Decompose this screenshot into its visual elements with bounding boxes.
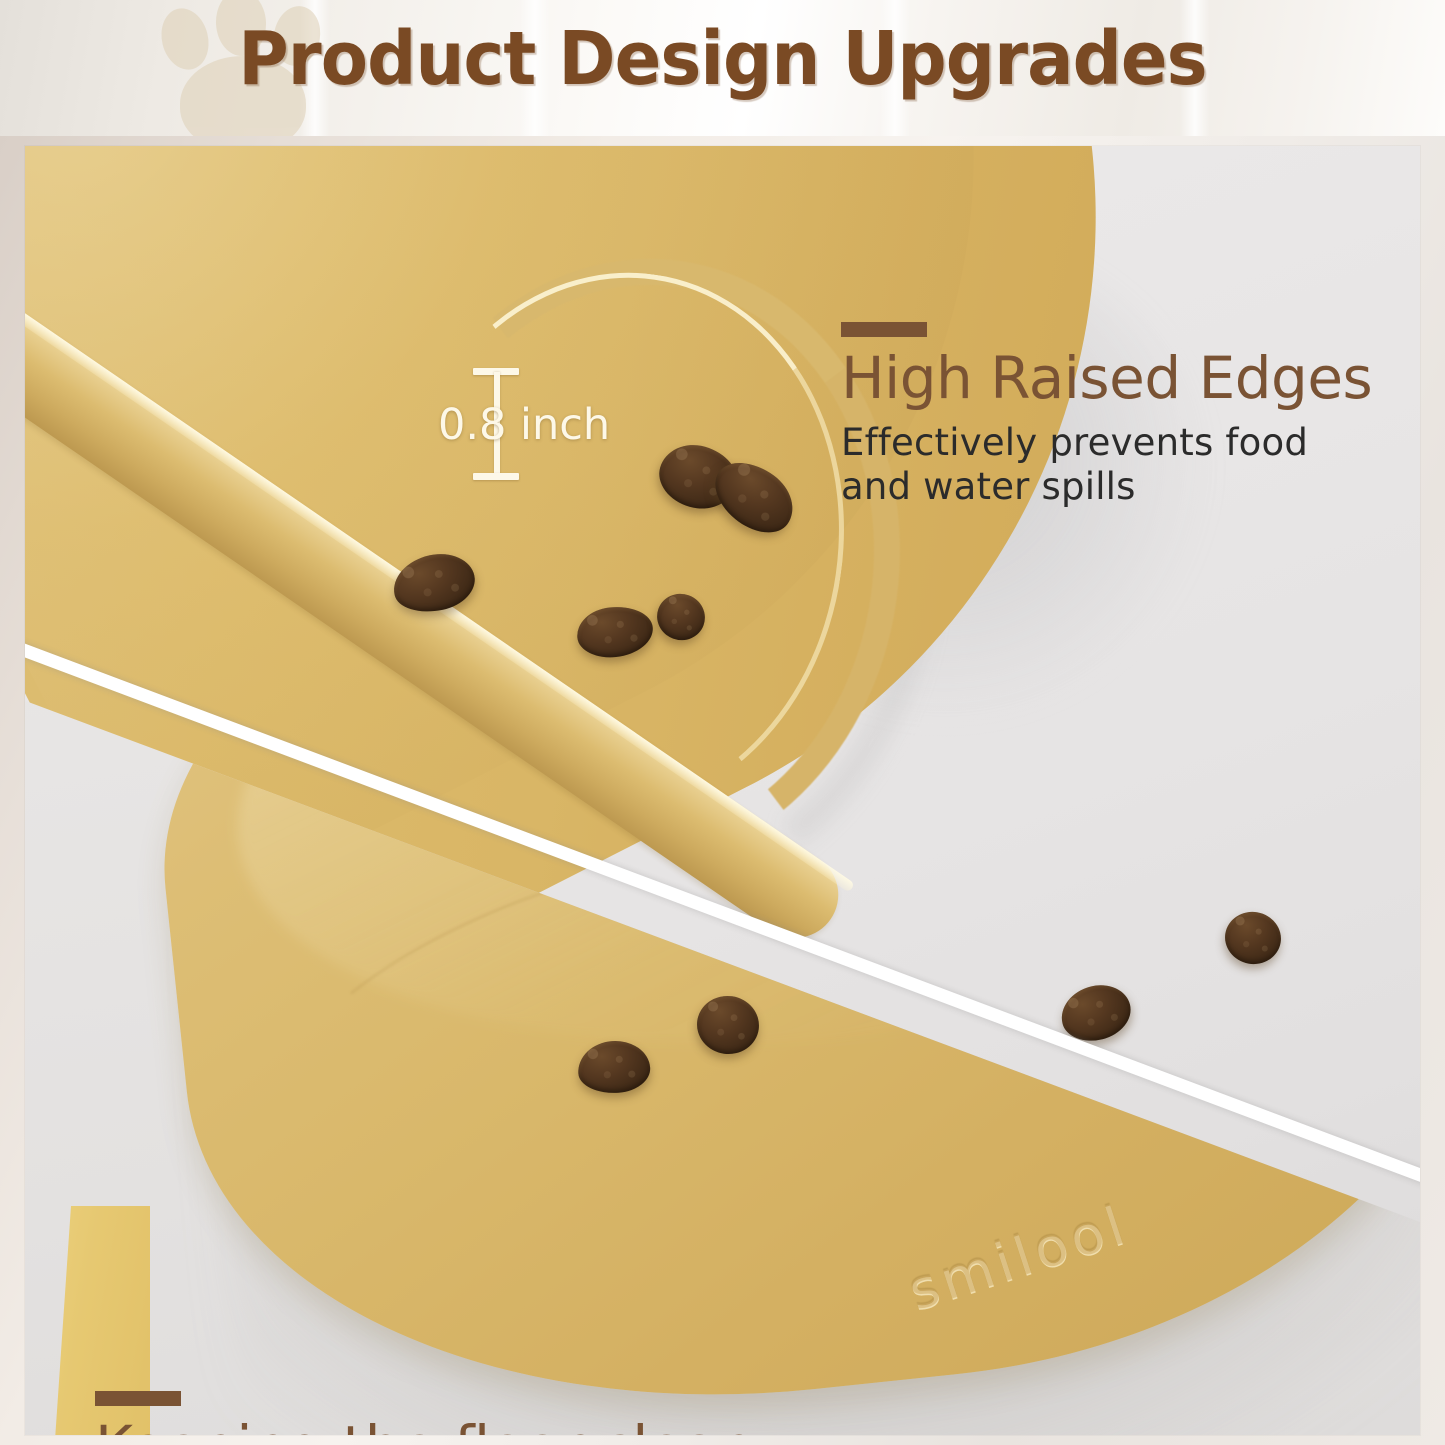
dimension-cap-bottom <box>473 473 519 480</box>
callout-subtitle: Effectively prevents food and water spil… <box>841 421 1372 508</box>
photo-frame: smilool 0.8 inch High Raised Edges Effec… <box>0 136 1445 1445</box>
product-feature-graphic: Product Design Upgrades <box>0 0 1445 1445</box>
callout-heading: Keeping the floor clean <box>95 1417 951 1435</box>
dimension-label: 0.8 inch <box>438 400 618 450</box>
accent-bar-icon <box>841 322 927 337</box>
product-photo: smilool 0.8 inch High Raised Edges Effec… <box>25 146 1420 1435</box>
callout-keeping-floor-clean: Keeping the floor clean Minimizes time s… <box>95 1391 951 1435</box>
callout-subtitle-line: Effectively prevents food <box>841 421 1372 465</box>
callout-subtitle-line: and water spills <box>841 465 1372 509</box>
header-banner: Product Design Upgrades <box>0 0 1445 136</box>
callout-heading: High Raised Edges <box>841 348 1372 409</box>
accent-bar-icon <box>95 1391 181 1406</box>
page-title: Product Design Upgrades <box>51 16 1395 102</box>
dimension-marker: 0.8 inch <box>438 368 618 486</box>
callout-high-raised-edges: High Raised Edges Effectively prevents f… <box>841 322 1372 508</box>
